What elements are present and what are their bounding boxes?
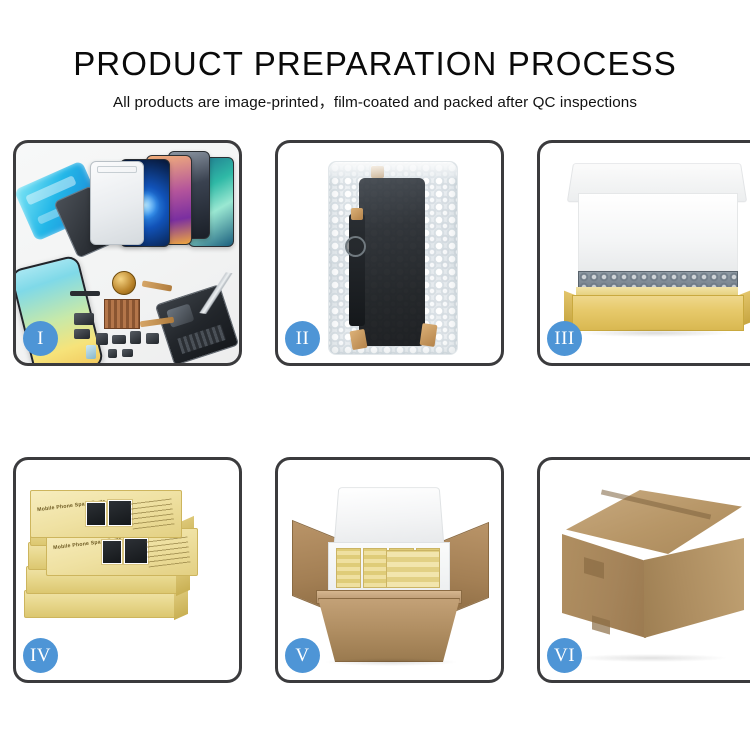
tape-piece [349,329,367,350]
tape-piece [420,323,438,347]
page-title: PRODUCT PREPARATION PROCESS [0,0,750,84]
stacked-box [24,590,176,618]
drop-shadow [326,658,456,666]
step-badge-4: IV [23,638,58,673]
drop-shadow [580,329,730,337]
speaker-component [112,271,136,295]
foam-box-lid [333,487,444,547]
flex-cable-1 [142,280,173,291]
step-badge-3: III [547,321,582,356]
product-box [363,548,388,588]
chip-component [104,299,140,329]
small-part [74,329,90,339]
small-part [86,345,96,359]
stacked-box-lid-top: Mobile Phone Spare Parts [30,490,182,538]
process-step-panel-3: III [537,140,750,366]
small-part [146,333,159,344]
white-foam-sheet [578,193,738,273]
process-step-panel-2: II [275,140,504,366]
step-badge-2: II [285,321,320,356]
flex-cable-strip [349,214,365,326]
small-part [112,335,126,344]
carton-body [318,598,460,662]
connector-ring [345,236,366,257]
process-step-grid: I II [13,140,737,685]
box-spec-lines [129,497,174,530]
process-step-panel-6: VI [537,457,750,683]
step-badge-5: V [285,638,320,673]
small-part [74,313,94,325]
tempered-glass-protector [90,161,144,245]
small-part [122,349,133,357]
product-window [101,539,123,565]
bar-component [70,291,100,296]
process-step-panel-5: V [275,457,504,683]
step-badge-6: VI [547,638,582,673]
product-boxes-flat [386,550,440,588]
product-box [336,548,361,588]
product-window [85,501,107,527]
wrapped-screen-assembly [359,178,425,346]
box-front-panel [572,295,744,331]
small-part [130,331,141,344]
product-preparation-infographic: PRODUCT PREPARATION PROCESS All products… [0,0,750,750]
tape-piece [351,208,363,220]
drop-shadow [576,654,726,662]
box-spec-lines [145,535,190,568]
header: PRODUCT PREPARATION PROCESS All products… [0,0,750,113]
process-step-panel-1: I [13,140,242,366]
small-part [96,333,108,345]
carton-right-face [644,538,744,638]
process-step-panel-4: Mobile Phone Spare Parts Mobile Phone Sp… [13,457,242,683]
bag-seal [329,162,457,178]
small-part [108,349,117,358]
tweezers-icon [192,268,238,317]
step-badge-1: I [23,321,58,356]
page-subtitle: All products are image-printed，film-coat… [0,84,750,113]
bubble-wrap-bag [328,161,458,355]
